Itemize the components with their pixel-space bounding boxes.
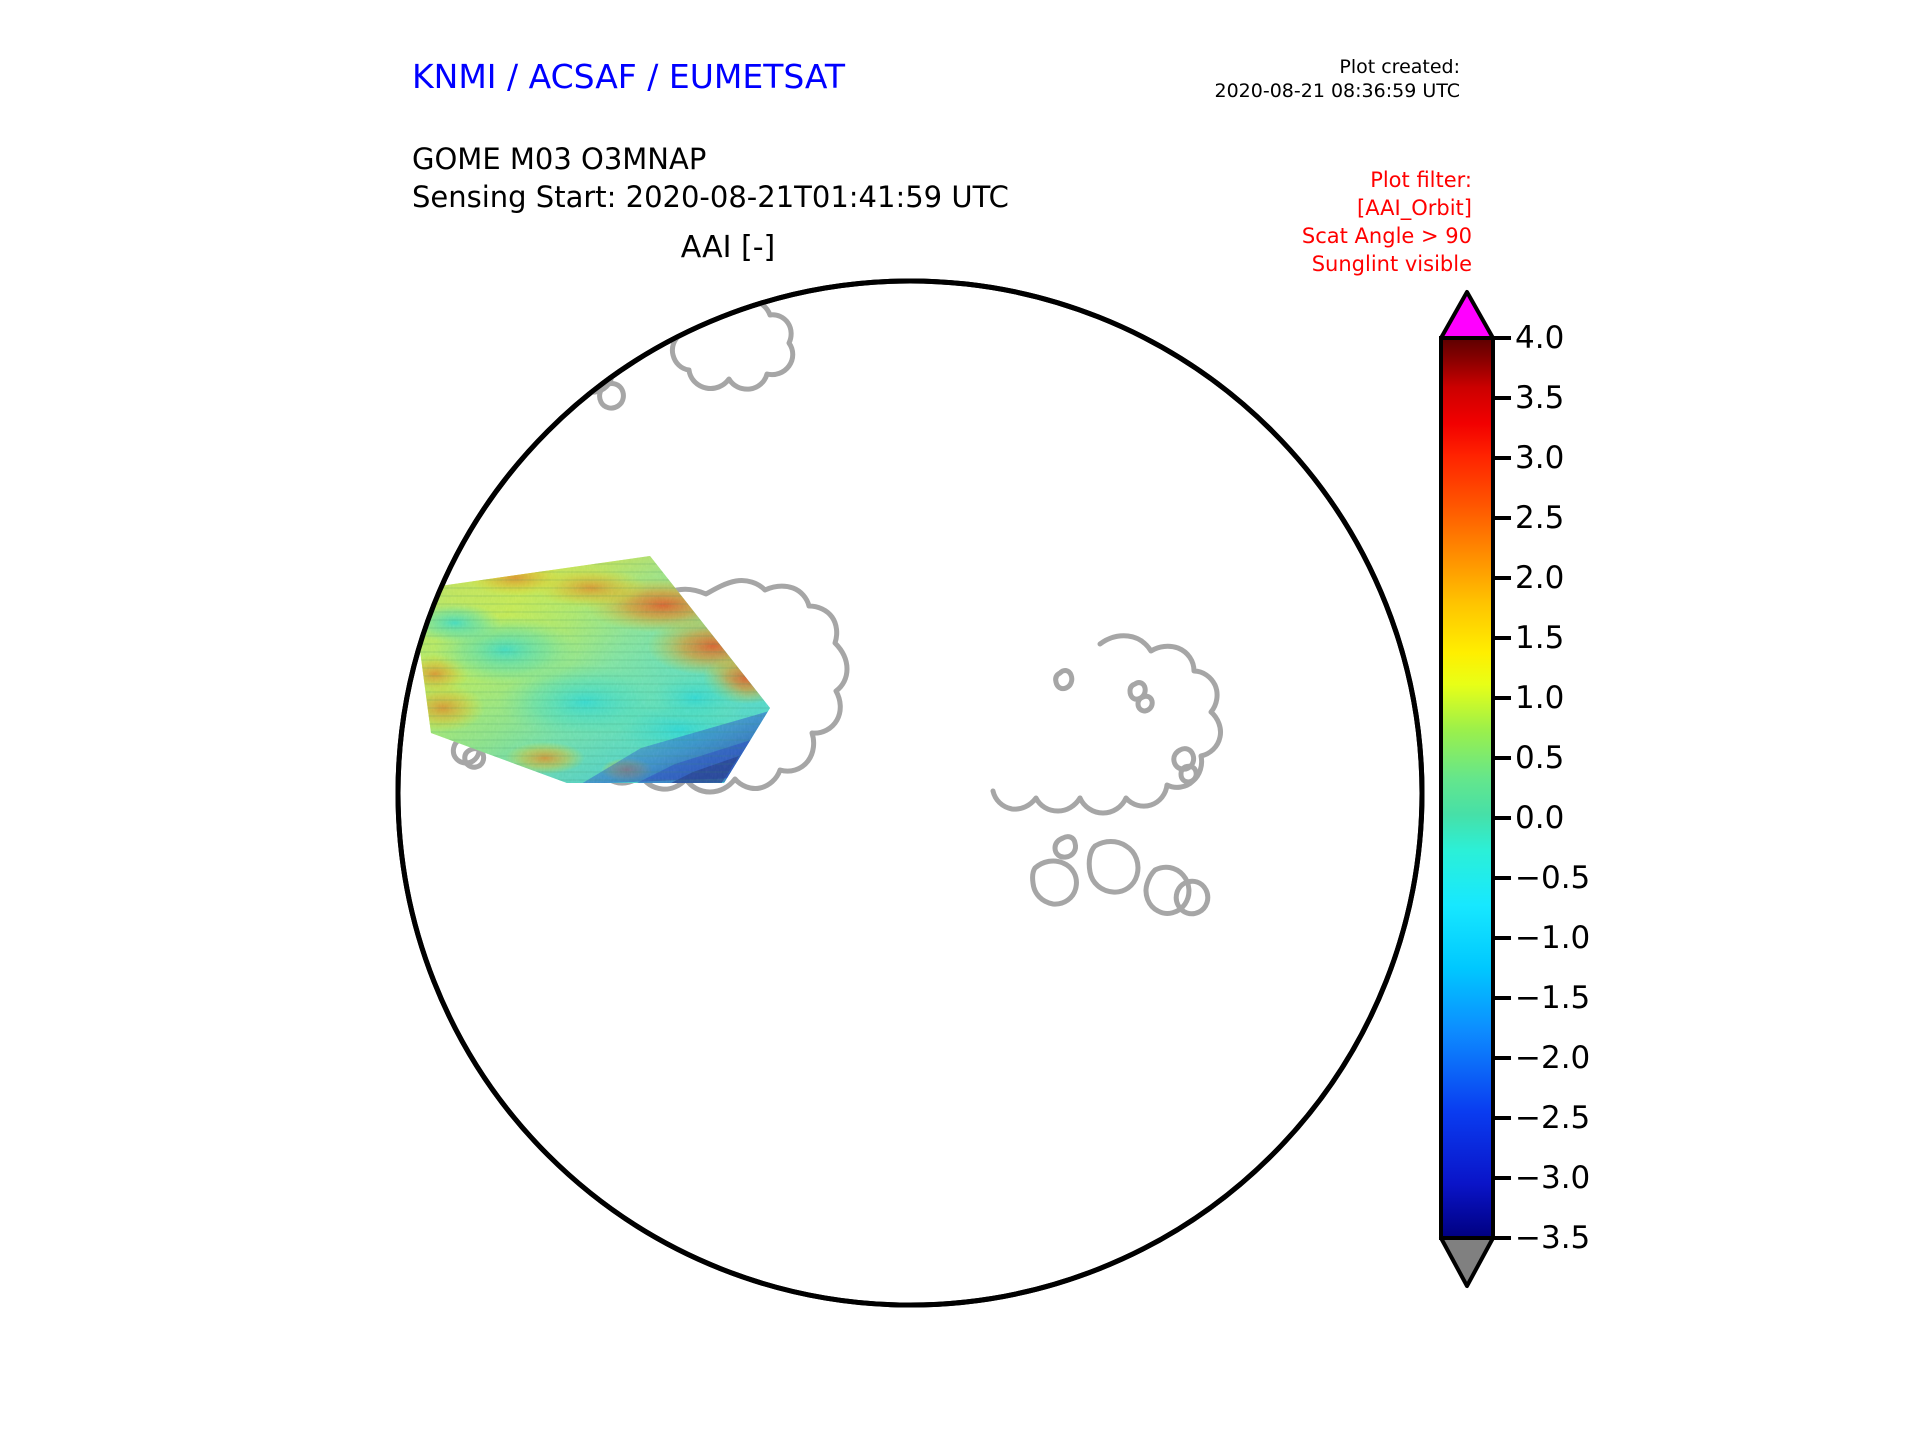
- colorbar-under-arrow: [1441, 1238, 1493, 1286]
- plot-created-timestamp: 2020-08-21 08:36:59 UTC: [1215, 80, 1461, 104]
- plot-filter-label: Plot filter:: [1302, 167, 1472, 195]
- plot-filter-block: Plot filter: [AAI_Orbit] Scat Angle > 90…: [1302, 167, 1472, 279]
- colorbar-tick-label: −1.0: [1515, 920, 1590, 956]
- colorbar-tick-label: −3.5: [1515, 1220, 1590, 1256]
- plot-filter-condition: Scat Angle > 90: [1302, 223, 1472, 251]
- colorbar-tick-label: −2.5: [1515, 1100, 1590, 1136]
- colorbar-tick-label: 3.5: [1515, 380, 1564, 416]
- colorbar-gradient: [1441, 338, 1493, 1238]
- colorbar-tick-label: −3.0: [1515, 1160, 1590, 1196]
- colorbar-tick-label: 2.0: [1515, 560, 1564, 596]
- colorbar-tick-label: 1.0: [1515, 680, 1564, 716]
- page-title: AAI [-]: [0, 230, 1456, 265]
- plot-filter-note: Sunglint visible: [1302, 251, 1472, 279]
- organisation-title: KNMI / ACSAF / EUMETSAT: [412, 57, 845, 96]
- colorbar-tick-label: 0.0: [1515, 800, 1564, 836]
- colorbar-tick-label: 2.5: [1515, 500, 1564, 536]
- map-panel[interactable]: [395, 278, 1425, 1308]
- colorbar-tick-label: 3.0: [1515, 440, 1564, 476]
- colorbar-ticks: [1493, 338, 1511, 1238]
- plot-filter-name: [AAI_Orbit]: [1302, 195, 1472, 223]
- product-name: GOME M03 O3MNAP: [412, 140, 1009, 178]
- sensing-start: Sensing Start: 2020-08-21T01:41:59 UTC: [412, 178, 1009, 216]
- colorbar-tick-label: −0.5: [1515, 860, 1590, 896]
- colorbar-over-arrow: [1441, 292, 1493, 338]
- colorbar-tick-label: −1.5: [1515, 980, 1590, 1016]
- colorbar: 4.0 3.5 3.0 2.5 2.0 1.5 1.0 0.5 0.0 −0.5…: [1437, 286, 1797, 1296]
- colorbar-tick-label: 4.0: [1515, 320, 1564, 356]
- colorbar-tick-label: −2.0: [1515, 1040, 1590, 1076]
- plot-created-block: Plot created: 2020-08-21 08:36:59 UTC: [1215, 56, 1461, 104]
- colorbar-tick-label: 0.5: [1515, 740, 1564, 776]
- product-info-block: GOME M03 O3MNAP Sensing Start: 2020-08-2…: [412, 140, 1009, 217]
- globe-outline: [398, 281, 1422, 1305]
- colorbar-tick-label: 1.5: [1515, 620, 1564, 656]
- plot-created-label: Plot created:: [1215, 56, 1461, 80]
